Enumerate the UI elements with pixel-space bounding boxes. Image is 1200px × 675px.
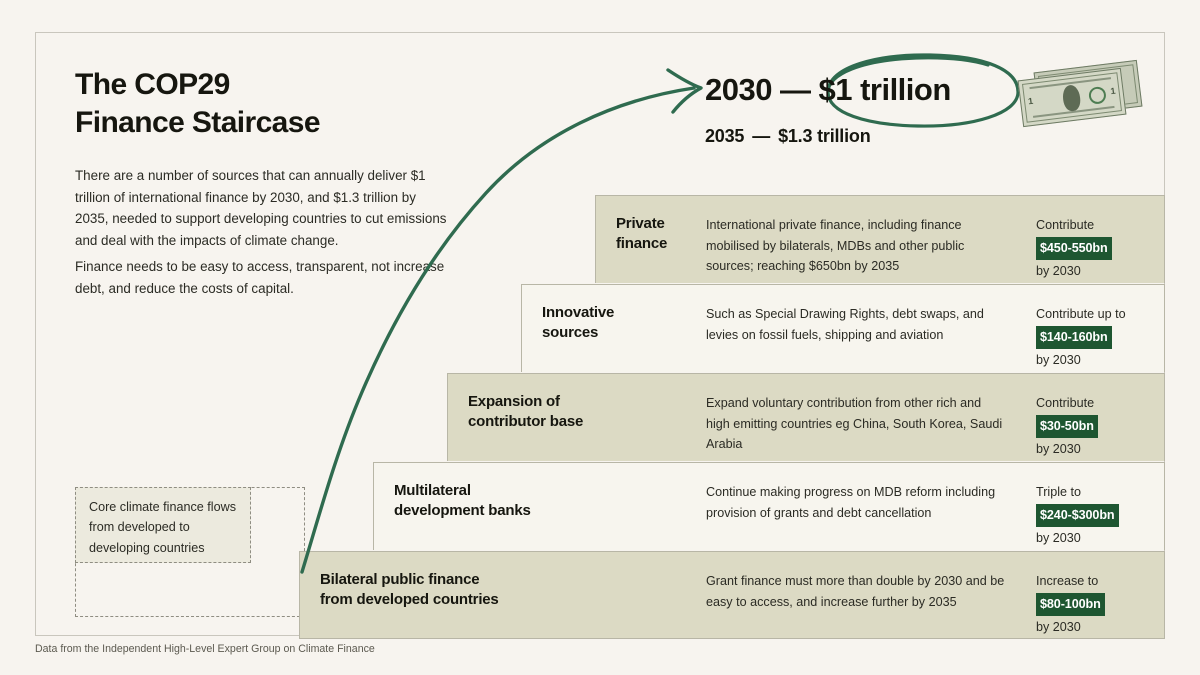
step-bilateral-public-finance-value-prefix: Increase to — [1036, 574, 1098, 588]
step-private-finance[interactable]: Privatefinance International private fin… — [595, 195, 1165, 283]
step-innovative-sources-name: Innovativesources — [542, 303, 614, 342]
goal-2030-value: $1 trillion — [818, 72, 950, 107]
step-expansion-of-contributor-base-value-amount: $30-50bn — [1036, 415, 1098, 439]
goal-2030-dash: — — [772, 72, 819, 108]
step-multilateral-development-banks[interactable]: Multilateraldevelopment banks Continue m… — [373, 462, 1165, 550]
step-expansion-of-contributor-base-value-prefix: Contribute — [1036, 396, 1094, 410]
step-bilateral-public-finance-value: Increase to $80-100bn by 2030 — [1036, 571, 1166, 638]
step-private-finance-value: Contribute $450-550bn by 2030 — [1036, 215, 1166, 282]
step-multilateral-development-banks-name: Multilateraldevelopment banks — [394, 481, 531, 520]
step-expansion-of-contributor-base-description: Expand voluntary contribution from other… — [706, 393, 1006, 455]
step-private-finance-value-amount: $450-550bn — [1036, 237, 1112, 261]
goal-2030-year: 2030 — [705, 72, 772, 107]
step-innovative-sources-value-suffix: by 2030 — [1036, 353, 1081, 367]
step-expansion-of-contributor-base[interactable]: Expansion ofcontributor base Expand volu… — [447, 373, 1165, 461]
step-multilateral-development-banks-value-prefix: Triple to — [1036, 485, 1081, 499]
intro-paragraph-1: There are a number of sources that can a… — [75, 165, 447, 252]
step-innovative-sources[interactable]: Innovativesources Such as Special Drawin… — [521, 284, 1165, 372]
step-multilateral-development-banks-value: Triple to $240-$300bn by 2030 — [1036, 482, 1166, 549]
goal-2030: 2030—$1 trillion — [705, 72, 951, 108]
step-bilateral-public-finance-value-amount: $80-100bn — [1036, 593, 1105, 617]
step-bilateral-public-finance-value-suffix: by 2030 — [1036, 620, 1081, 634]
step-innovative-sources-value: Contribute up to $140-160bn by 2030 — [1036, 304, 1166, 371]
core-finance-label-text: Core climate finance flows from develope… — [89, 497, 245, 558]
goal-2035-year: 2035 — [705, 126, 744, 146]
goal-2035: 2035—$1.3 trillion — [705, 126, 871, 147]
dollar-bills-icon: 1 1 — [1014, 60, 1146, 136]
goal-2035-dash: — — [744, 126, 778, 147]
step-private-finance-value-prefix: Contribute — [1036, 218, 1094, 232]
step-private-finance-name: Privatefinance — [616, 214, 667, 253]
step-bilateral-public-finance-name: Bilateral public financefrom developed c… — [320, 570, 499, 609]
page-title: The COP29Finance Staircase — [75, 66, 495, 142]
infographic-canvas: The COP29Finance Staircase There are a n… — [0, 0, 1200, 675]
step-innovative-sources-value-prefix: Contribute up to — [1036, 307, 1126, 321]
step-multilateral-development-banks-value-amount: $240-$300bn — [1036, 504, 1119, 528]
step-innovative-sources-value-amount: $140-160bn — [1036, 326, 1112, 350]
step-expansion-of-contributor-base-name: Expansion ofcontributor base — [468, 392, 583, 431]
step-private-finance-description: International private finance, including… — [706, 215, 1006, 277]
step-innovative-sources-description: Such as Special Drawing Rights, debt swa… — [706, 304, 1006, 345]
step-private-finance-value-suffix: by 2030 — [1036, 264, 1081, 278]
step-expansion-of-contributor-base-value: Contribute $30-50bn by 2030 — [1036, 393, 1166, 460]
step-multilateral-development-banks-description: Continue making progress on MDB reform i… — [706, 482, 1006, 523]
intro-paragraph-2: Finance needs to be easy to access, tran… — [75, 256, 447, 299]
source-credit: Data from the Independent High-Level Exp… — [35, 643, 375, 655]
step-expansion-of-contributor-base-value-suffix: by 2030 — [1036, 442, 1081, 456]
core-finance-label-box: Core climate finance flows from develope… — [75, 487, 251, 563]
step-bilateral-public-finance-description: Grant finance must more than double by 2… — [706, 571, 1006, 612]
goal-2035-value: $1.3 trillion — [778, 126, 870, 146]
step-multilateral-development-banks-value-suffix: by 2030 — [1036, 531, 1081, 545]
step-bilateral-public-finance[interactable]: Bilateral public financefrom developed c… — [299, 551, 1165, 639]
